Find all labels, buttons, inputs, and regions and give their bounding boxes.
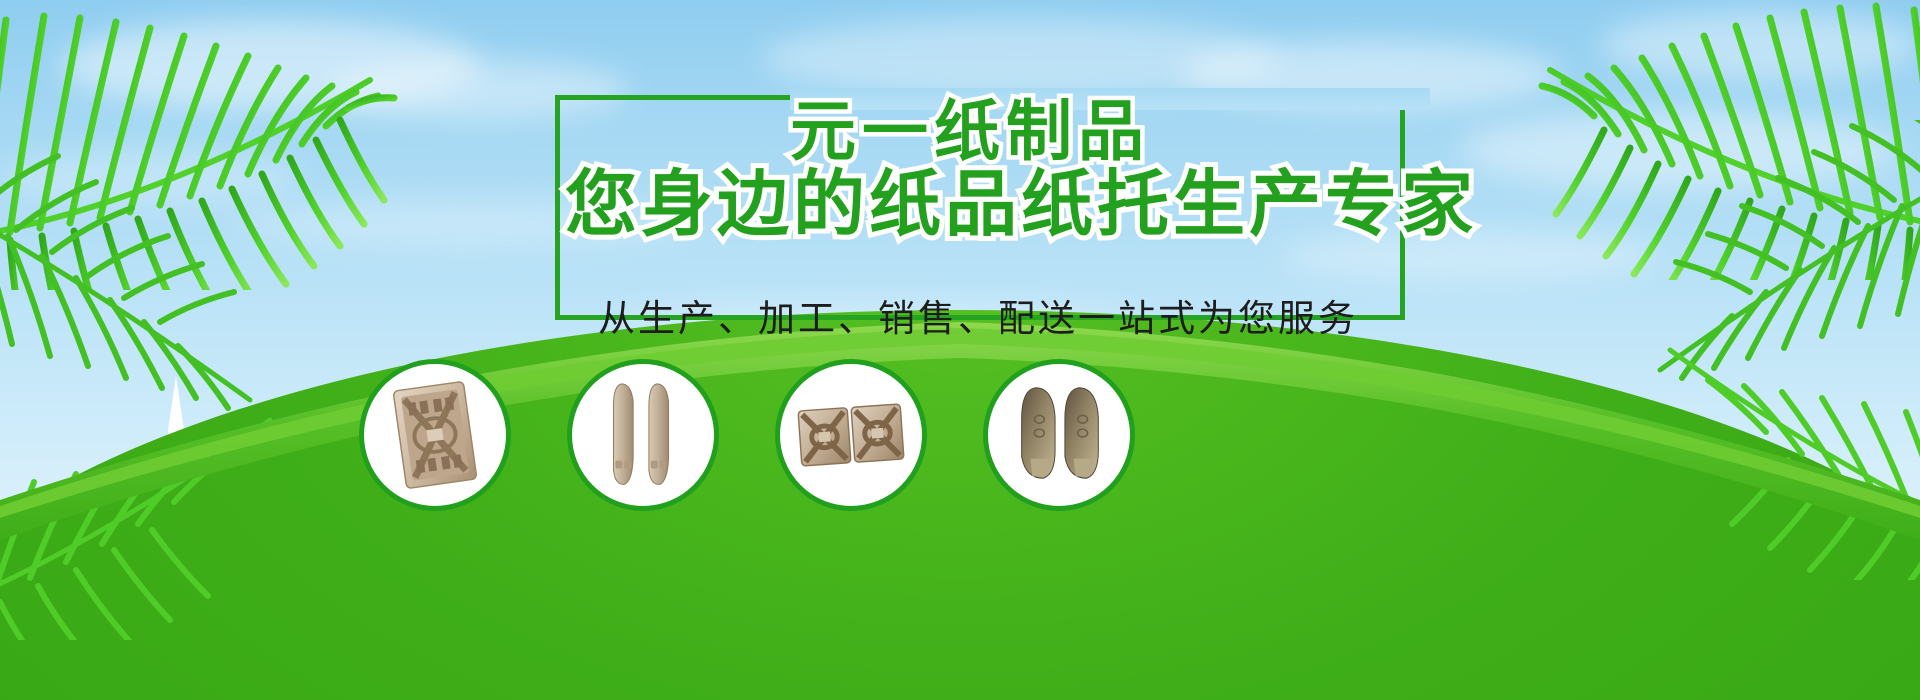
product-circle-1[interactable] bbox=[359, 359, 511, 511]
pulp-tray-product-icon bbox=[376, 376, 494, 494]
promo-banner: 元一纸制品 您身边的纸品纸托生产专家 从生产、加工、销售、配送一站式为您服务 bbox=[0, 0, 1920, 700]
product-circle-2[interactable] bbox=[567, 359, 719, 511]
product-circle-3[interactable] bbox=[775, 359, 927, 511]
banner-subtitle: 从生产、加工、销售、配送一站式为您服务 bbox=[598, 288, 1358, 342]
headline-secondary: 您身边的纸品纸托生产专家 bbox=[565, 145, 1477, 250]
pulp-shoe-tree-product-icon bbox=[1000, 376, 1118, 494]
pulp-shoe-insert-product-icon bbox=[584, 376, 702, 494]
pulp-packaging-insert-product-icon bbox=[792, 376, 910, 494]
product-circle-4[interactable] bbox=[983, 359, 1135, 511]
